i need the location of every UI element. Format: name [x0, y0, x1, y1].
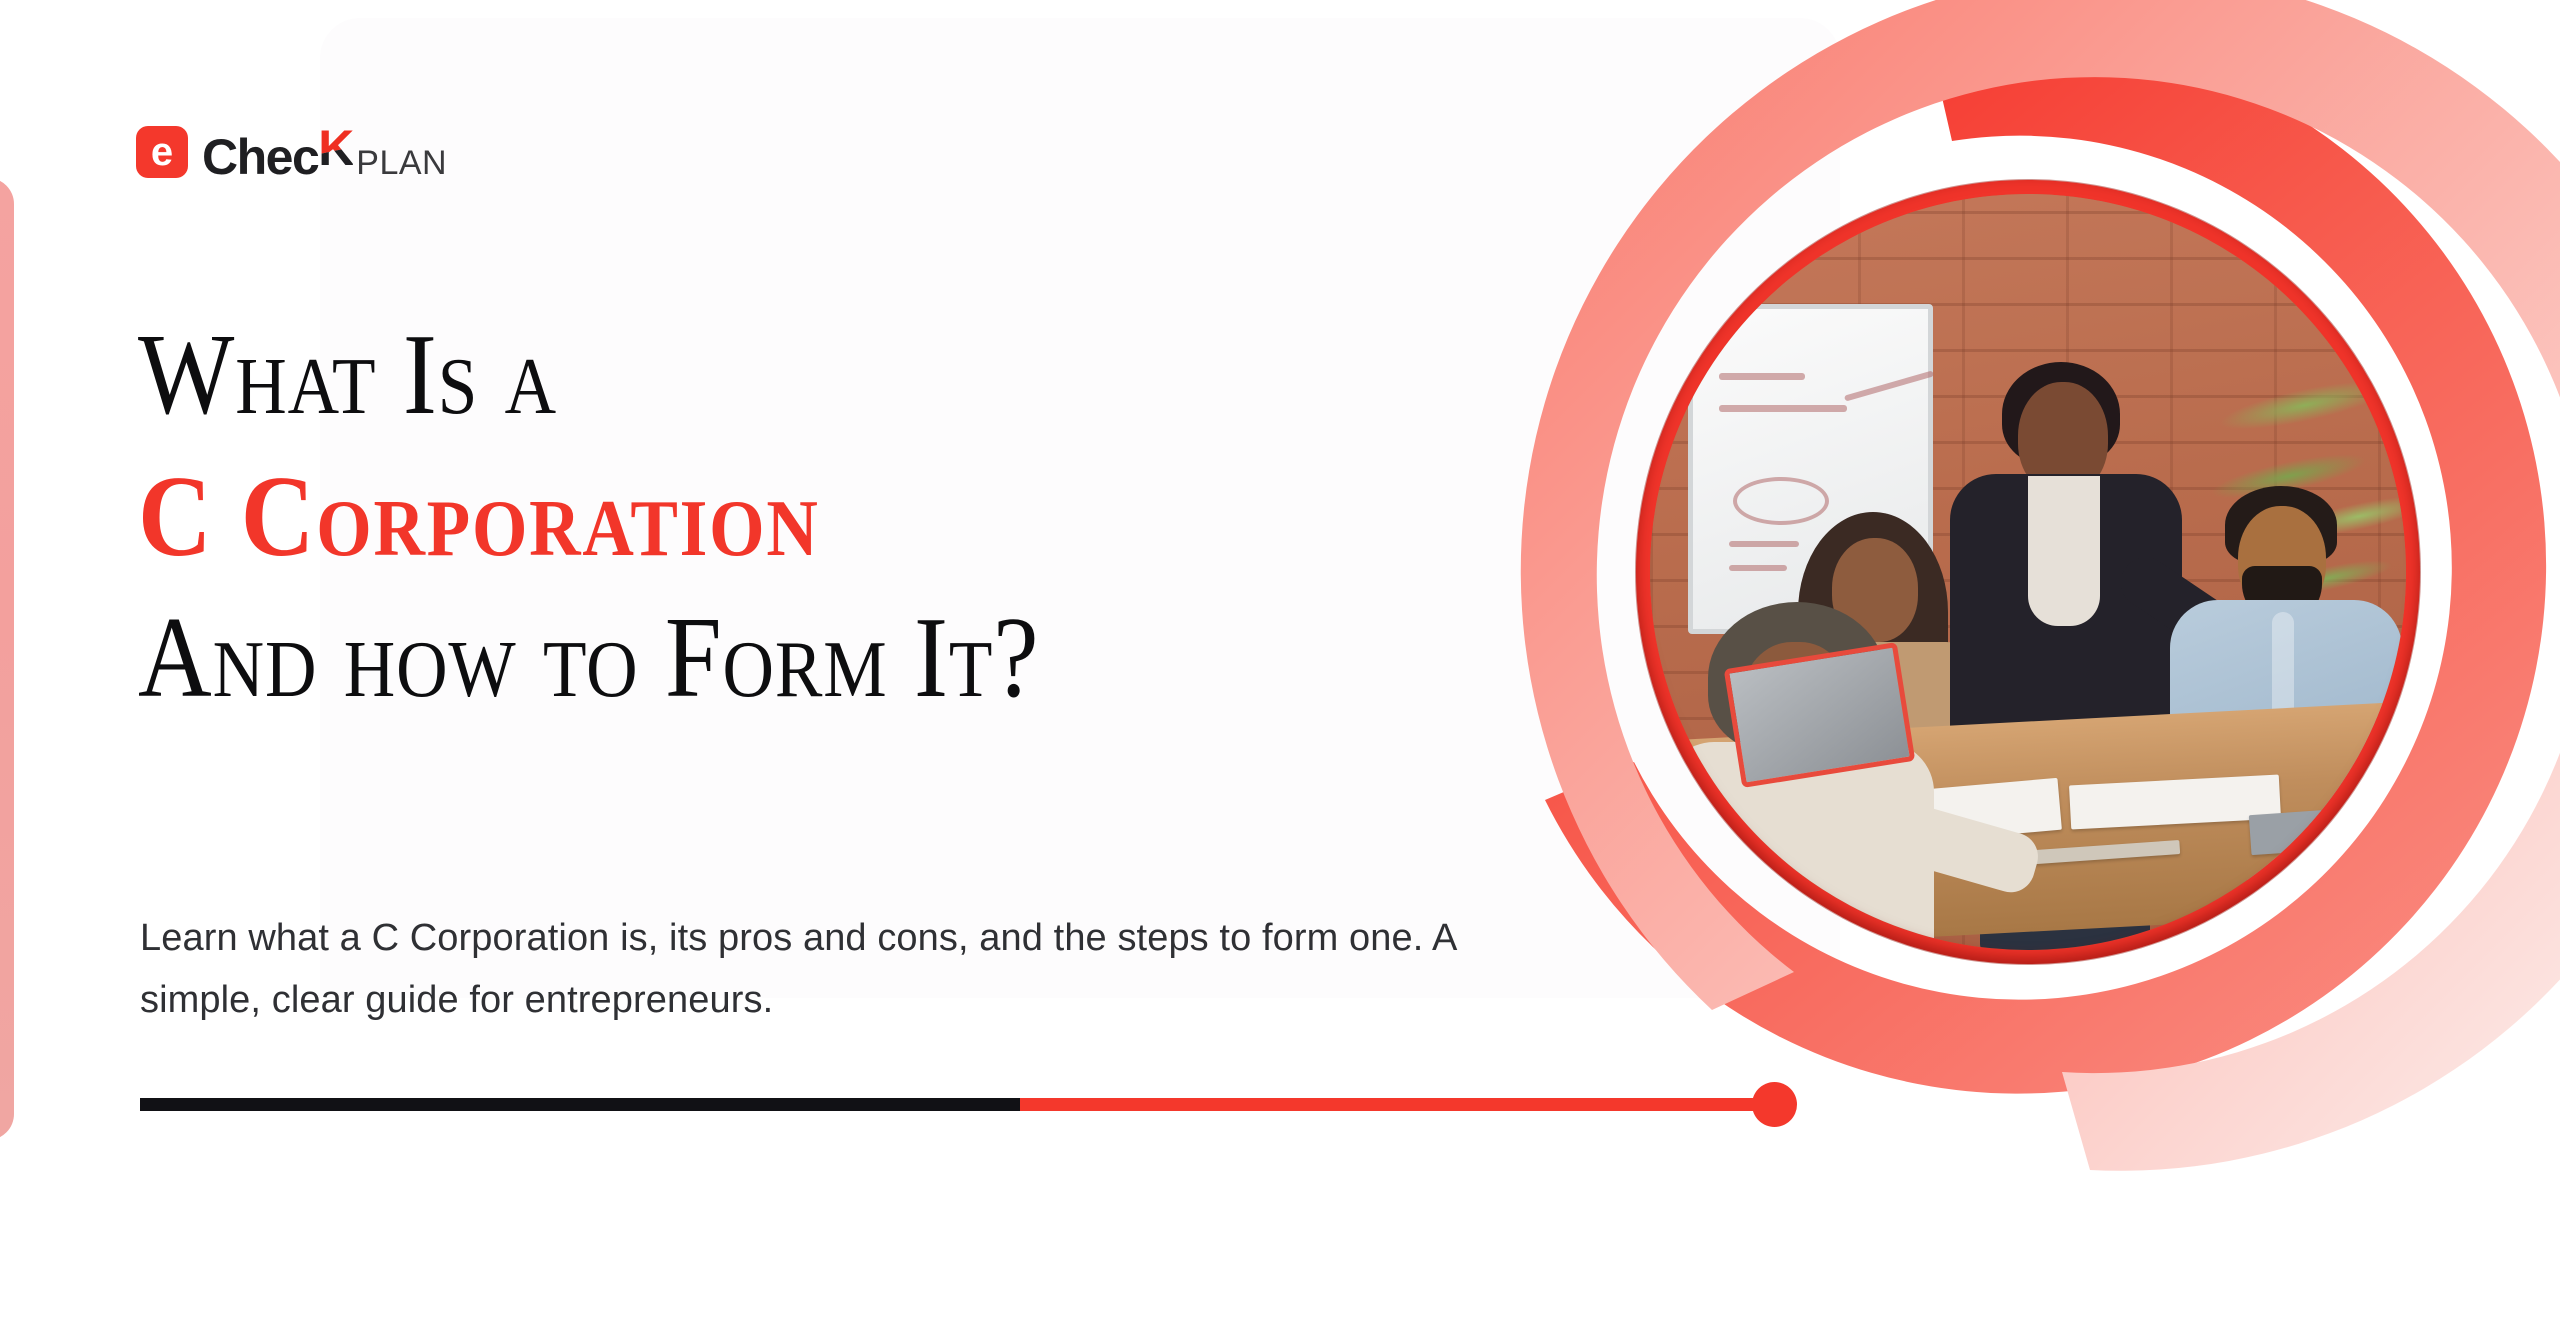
logo-word-plan: PLAN	[356, 146, 447, 180]
rule-end-dot	[1752, 1082, 1797, 1127]
hero-photo-ring	[1636, 180, 2420, 964]
decorative-rule	[140, 1098, 1780, 1111]
logo-wordmark: Chec K K PLAN	[202, 122, 447, 182]
left-edge-accent-bar	[0, 178, 14, 1140]
hero-photo	[1650, 194, 2406, 950]
headline-line-3: And how to Form It?	[138, 588, 1039, 730]
logo-word-k: K K	[318, 122, 354, 174]
page-title: What Is a C Corporation And how to Form …	[138, 305, 1162, 730]
logo-e-mark-icon: e	[136, 126, 188, 178]
page-subtitle: Learn what a C Corporation is, its pros …	[140, 908, 1500, 1031]
logo-word-chec: Chec	[202, 132, 318, 182]
rule-red-segment	[1020, 1098, 1780, 1111]
rule-dark-segment	[140, 1098, 1020, 1111]
headline-line-2-accent: C Corporation	[138, 447, 1039, 589]
poster-canvas: e Chec K K PLAN What Is a C Corporation …	[0, 0, 2560, 1343]
brand-logo[interactable]: e Chec K K PLAN	[136, 122, 447, 182]
headline-line-1: What Is a	[138, 305, 1039, 447]
